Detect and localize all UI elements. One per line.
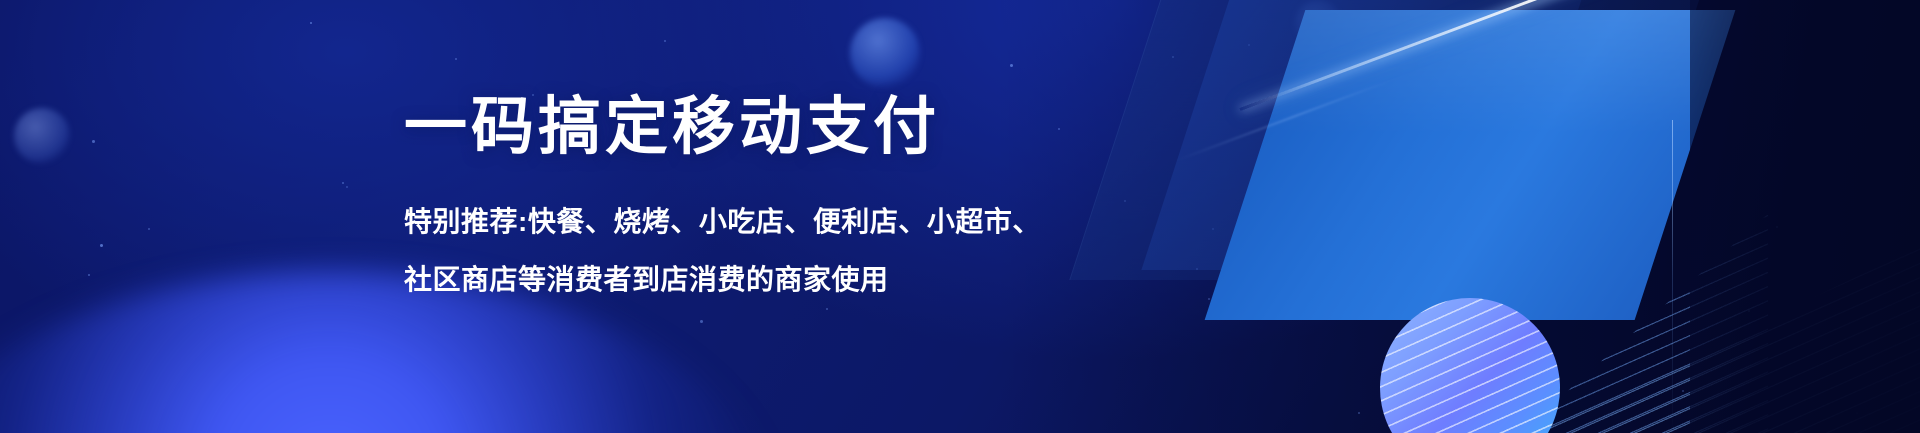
banner-copy: 一码搞定移动支付 特别推荐:快餐、烧烤、小吃店、便利店、小超市、 社区商店等消费…	[404, 96, 1224, 309]
orb-stripe-overlay	[1380, 298, 1560, 433]
banner-headline: 一码搞定移动支付	[404, 96, 1224, 159]
banner-subtitle-line-2: 社区商店等消费者到店消费的商家使用	[404, 251, 1224, 309]
promo-banner: 一码搞定移动支付 特别推荐:快餐、烧烤、小吃店、便利店、小超市、 社区商店等消费…	[0, 0, 1920, 433]
banner-subtitle: 特别推荐:快餐、烧烤、小吃店、便利店、小超市、 社区商店等消费者到店消费的商家使…	[404, 193, 1224, 309]
panel-vertical-edge	[1672, 120, 1673, 433]
gradient-orb	[1380, 298, 1560, 433]
banner-subtitle-line-1: 特别推荐:快餐、烧烤、小吃店、便利店、小超市、	[404, 193, 1224, 251]
right-dark-wedge	[1690, 0, 1920, 433]
